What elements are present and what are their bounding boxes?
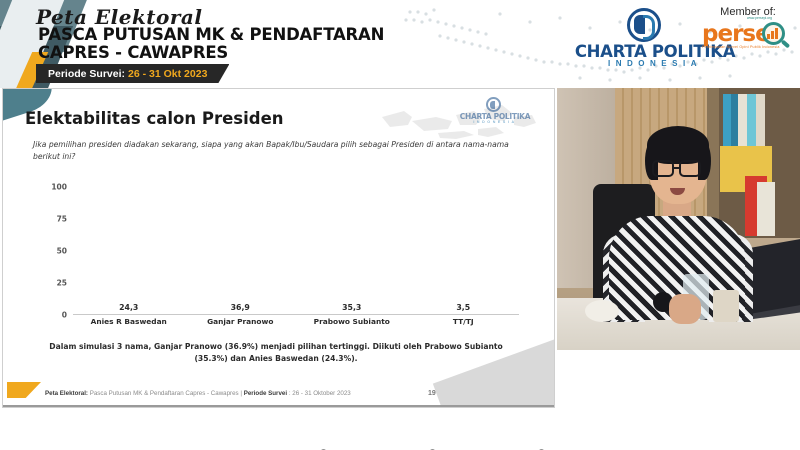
persepi-logo-word: perse: [702, 21, 770, 47]
slide-page-number: 19: [428, 390, 436, 397]
bar-value-anies: 24,3: [85, 303, 173, 312]
header-banner: Peta Elektoral PASCA PUTUSAN MK & PENDAF…: [0, 0, 800, 88]
slide-footer: Peta Elektoral: Pasca Putusan MK & Penda…: [3, 386, 555, 400]
bar-value-prabowo: 35,3: [308, 303, 396, 312]
video-background-books: [723, 94, 765, 148]
survey-period-value: 26 - 31 Okt 2023: [128, 68, 207, 80]
y-axis-tick-100: 100: [51, 183, 67, 192]
persepi-logo-url: www.persepi.org: [747, 16, 772, 20]
x-axis-labels: Anies R Baswedan Ganjar Pranowo Prabowo …: [73, 317, 519, 326]
speaker-eyeglass-left: [652, 160, 674, 177]
chart-bars: 24,3 36,9 35,3 3,5: [73, 187, 519, 314]
bar-chart-icon: [767, 28, 778, 39]
speaker-eyeglass-bridge: [674, 167, 679, 169]
slide-footer-period-value: : 26 - 31 Oktober 2023: [289, 390, 351, 397]
slide-insight-note: Dalam simulasi 3 nama, Ganjar Pranowo (3…: [41, 341, 511, 365]
presentation-slide: CHARTA POLITIKA INDONESIA Elektabilitas …: [2, 88, 555, 408]
slide-footer-subject: Pasca Putusan MK & Pendaftaran Capres - …: [90, 390, 239, 397]
member-of-block: Member of: www.persepi.org perse Perhimp…: [700, 6, 796, 70]
slide-question-text: Jika pemilihan presiden diadakan sekaran…: [33, 139, 523, 163]
elektabilitas-bar-chart: 100 75 50 25 0 24,3 36,9 35,3: [27, 183, 527, 333]
survey-period-label: Periode Survei:: [48, 68, 125, 80]
persepi-logo: www.persepi.org perse Perhimpunan Survei…: [700, 21, 796, 51]
charta-politika-mark-icon: [627, 8, 661, 42]
bar-value-tttj: 3,5: [419, 303, 507, 312]
video-background-white-book: [757, 182, 775, 236]
slide-footer-period-label: Periode Survei: [244, 390, 287, 397]
bar-value-ganjar: 36,9: [196, 303, 284, 312]
slide-title: Elektabilitas calon Presiden: [25, 109, 284, 128]
y-axis-tick-0: 0: [62, 311, 67, 320]
y-axis-tick-50: 50: [57, 247, 67, 256]
broadcast-screen: Peta Elektoral PASCA PUTUSAN MK & PENDAF…: [0, 0, 800, 450]
social-media-bar: chartapolitika chartapolitika chartapoli…: [0, 422, 800, 450]
x-label-tttj: TT/TJ: [419, 317, 507, 326]
slide-footer-separator: |: [240, 390, 242, 397]
program-main-title: PASCA PUTUSAN MK & PENDAFTARAN CAPRES - …: [38, 26, 458, 63]
speaker-hand: [669, 294, 701, 324]
speaker-eyeglass-right: [679, 160, 701, 177]
y-axis-tick-75: 75: [57, 215, 67, 224]
survey-period-badge: Periode Survei: 26 - 31 Okt 2023: [36, 64, 229, 83]
speaker-video-feed[interactable]: [557, 88, 800, 350]
slide-watermark-mark-icon: [486, 97, 501, 112]
slide-watermark-sub: INDONESIA: [454, 120, 536, 124]
slide-footer-title: Peta Elektoral:: [45, 390, 88, 397]
white-cup-left: [585, 300, 619, 322]
x-label-prabowo: Prabowo Subianto: [308, 317, 396, 326]
x-label-anies: Anies R Baswedan: [85, 317, 173, 326]
slide-bottom-rule: [3, 405, 555, 407]
x-label-ganjar: Ganjar Pranowo: [196, 317, 284, 326]
persepi-logo-tagline: Perhimpunan Survei Opini Publik Indonesi…: [702, 45, 780, 49]
x-axis-line: [73, 314, 519, 315]
slide-footer-text: Peta Elektoral: Pasca Putusan MK & Penda…: [45, 390, 351, 397]
slide-watermark-logo: CHARTA POLITIKA INDONESIA: [454, 97, 536, 127]
y-axis-tick-25: 25: [57, 279, 67, 288]
paper-cup: [713, 290, 739, 322]
chart-plot-area: 100 75 50 25 0 24,3 36,9 35,3: [73, 187, 519, 315]
